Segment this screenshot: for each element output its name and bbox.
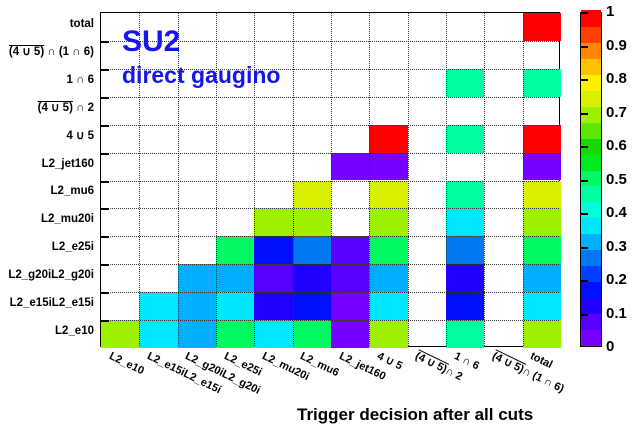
y-axis-label: L2_mu6 [0, 186, 94, 198]
colorbar-tick-label: 0.3 [606, 239, 627, 254]
colorbar-segment [581, 186, 601, 203]
y-axis-label: L2_jet160 [0, 159, 94, 171]
colorbar-tick-label: 0.8 [606, 71, 627, 86]
sample-title: SU2 [122, 27, 180, 57]
y-axis-label: (4 ∪ 5) ∩ (1 ∩ 6) [0, 47, 94, 59]
colorbar-tick [581, 180, 588, 182]
colorbar-segment [581, 202, 601, 219]
colorbar-segment [581, 282, 601, 299]
y-axis-label: 4 ∪ 5 [0, 131, 94, 143]
colorbar-segment [581, 314, 601, 331]
colorbar-segment [581, 90, 601, 107]
colorbar-tick-label: 1 [606, 4, 614, 19]
colorbar-segment [581, 74, 601, 91]
colorbar-segment [581, 218, 601, 235]
colorbar-tick [581, 79, 588, 81]
colorbar-segment [581, 154, 601, 171]
colorbar-segment [581, 26, 601, 43]
colorbar-tick-label: 0.9 [606, 38, 627, 53]
colorbar-tick [581, 46, 588, 48]
plot-canvas: L2_e10L2_e15iL2_e15iL2_g20iL2_g20iL2_e25… [0, 0, 643, 433]
sample-subtitle: direct gaugino [122, 64, 280, 87]
y-axis-label: total [0, 19, 94, 31]
colorbar-tick [581, 113, 588, 115]
colorbar-segment [581, 250, 601, 267]
y-axis-label: (4 ∪ 5) ∩ 2 [0, 103, 94, 115]
y-axis-label: L2_mu20i [0, 214, 94, 226]
colorbar-tick-label: 0.6 [606, 138, 627, 153]
y-axis-label: 1 ∩ 6 [0, 75, 94, 87]
y-axis-label: L2_g20iL2_g20i [0, 270, 94, 282]
colorbar-tick [581, 146, 588, 148]
colorbar-tick [581, 280, 588, 282]
colorbar-tick-label: 0 [606, 339, 614, 354]
colorbar-tick [581, 247, 588, 249]
colorbar-tick [581, 213, 588, 215]
colorbar-segment [581, 122, 601, 139]
colorbar-segment [581, 170, 601, 187]
colorbar-tick-label: 0.7 [606, 105, 627, 120]
colorbar-tick [581, 314, 588, 316]
colorbar-tick-label: 0.5 [606, 172, 627, 187]
colorbar-segment [581, 298, 601, 315]
x-axis-title: Trigger decision after all cuts [297, 405, 533, 425]
colorbar-tick-label: 0.2 [606, 272, 627, 287]
y-axis-label: L2_e10 [0, 326, 94, 338]
colorbar-segment [581, 329, 601, 346]
colorbar-tick [581, 12, 588, 14]
colorbar-tick-label: 0.4 [606, 205, 627, 220]
colorbar-tick-label: 0.1 [606, 306, 627, 321]
y-axis-label: L2_e15iL2_e15i [0, 298, 94, 310]
y-axis-label: L2_e25i [0, 242, 94, 254]
colorbar-segment [581, 58, 601, 75]
